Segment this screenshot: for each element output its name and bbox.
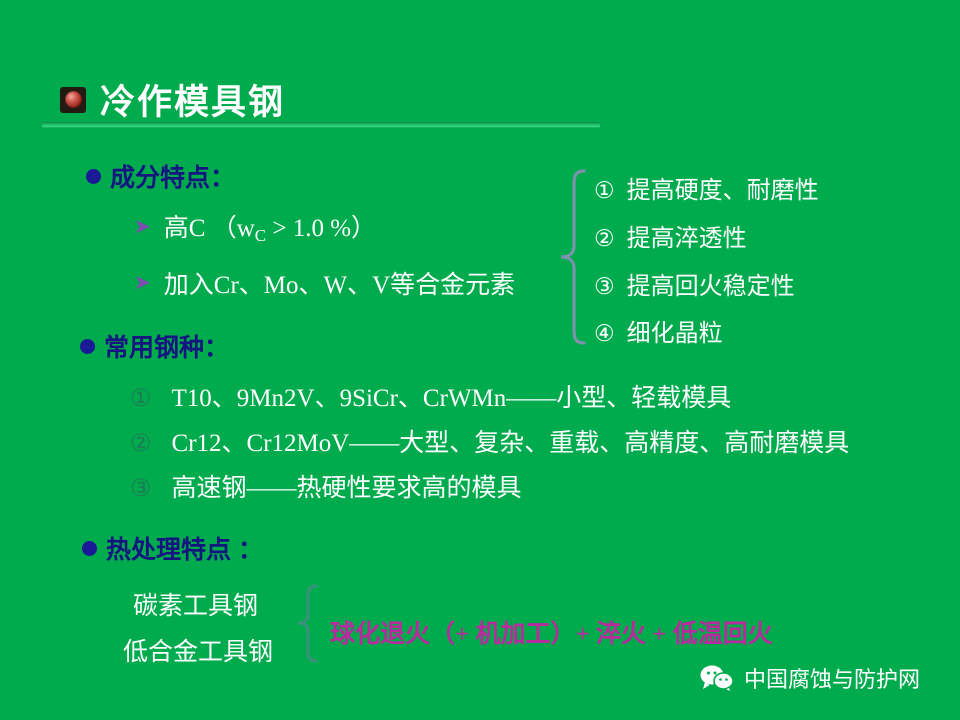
heat-treatment-brace-icon (296, 583, 322, 665)
effect-item-3: ③ 提高回火稳定性 (594, 266, 795, 301)
heading-steel-grades: 常用钢种： (80, 328, 229, 364)
bullet-dot-icon (82, 541, 97, 556)
heading-composition-label: 成分特点： (110, 158, 235, 194)
effect-item-2: ② 提高淬透性 (594, 218, 747, 253)
effect-item-1-num: ① (594, 178, 615, 204)
heat-treatment-process: 球化退火（+ 机加工）+ 淬火 + 低温回火 (330, 614, 773, 650)
effect-item-4-label: 细化晶粒 (627, 313, 723, 348)
footer-watermark: 中国腐蚀与防护网 (700, 662, 920, 694)
wechat-icon (700, 664, 734, 692)
composition-item-carbon-label: 高C （wC > 1.0 %） (164, 208, 376, 246)
heat-treatment-steel-1: 碳素工具钢 (133, 586, 258, 622)
bullet-dot-icon (80, 339, 95, 354)
arrow-bullet-icon: ➤ (134, 273, 151, 293)
steel-grade-item-1: ① T10、9Mn2V、9SiCr、CrWMn——小型、轻载模具 (130, 378, 731, 414)
slide-title-row: 冷作模具钢 (60, 74, 285, 125)
effects-brace-icon (556, 168, 590, 346)
heading-heat-treatment-label: 热处理特点 ： (106, 530, 263, 566)
heading-composition: 成分特点： (86, 158, 235, 194)
title-divider (42, 122, 600, 128)
heading-heat-treatment: 热处理特点 ： (82, 530, 263, 566)
steel-grade-item-2-label: Cr12、Cr12MoV——大型、复杂、重载、高精度、高耐磨模具 (172, 423, 850, 459)
red-orb-icon (60, 87, 86, 113)
effect-item-4: ④ 细化晶粒 (594, 313, 723, 348)
steel-grade-item-2: ② Cr12、Cr12MoV——大型、复杂、重载、高精度、高耐磨模具 (130, 423, 849, 459)
effect-item-4-num: ④ (594, 321, 615, 347)
arrow-bullet-icon: ➤ (134, 217, 151, 237)
steel-grade-item-3-label: 高速钢——热硬性要求高的模具 (172, 468, 522, 504)
effect-item-1: ① 提高硬度、耐磨性 (594, 170, 819, 205)
effect-item-3-label: 提高回火稳定性 (627, 266, 795, 301)
bullet-dot-icon (86, 169, 101, 184)
page-title: 冷作模具钢 (100, 74, 285, 125)
footer-text: 中国腐蚀与防护网 (744, 662, 920, 694)
steel-grade-item-3-num: ③ (130, 474, 152, 503)
composition-item-alloy-label: 加入Cr、Mo、W、V等合金元素 (164, 265, 515, 301)
composition-item-carbon: ➤ 高C （wC > 1.0 %） (134, 208, 376, 246)
steel-grade-item-2-num: ② (130, 429, 152, 458)
steel-grade-item-3: ③ 高速钢——热硬性要求高的模具 (130, 468, 522, 504)
steel-grade-item-1-num: ① (130, 384, 152, 413)
composition-item-alloy: ➤ 加入Cr、Mo、W、V等合金元素 (134, 265, 515, 301)
effect-item-2-num: ② (594, 226, 615, 252)
effect-item-3-num: ③ (594, 274, 615, 300)
heading-steel-grades-label: 常用钢种： (104, 328, 229, 364)
effect-item-2-label: 提高淬透性 (627, 218, 747, 253)
heat-treatment-steel-2: 低合金工具钢 (123, 632, 273, 668)
effect-item-1-label: 提高硬度、耐磨性 (627, 170, 819, 205)
steel-grade-item-1-label: T10、9Mn2V、9SiCr、CrWMn——小型、轻载模具 (172, 378, 732, 414)
